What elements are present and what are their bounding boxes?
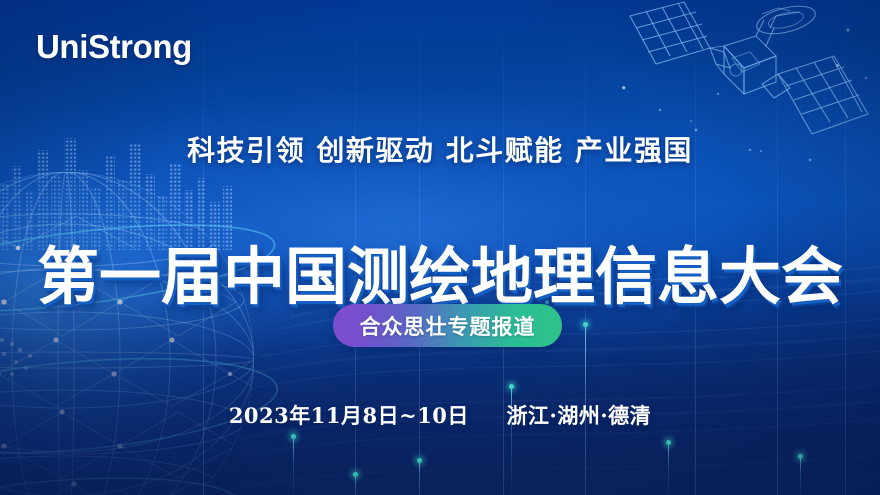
page-title: 第一届中国测绘地理信息大会: [0, 246, 880, 308]
event-location: 浙江·湖州·德清: [507, 403, 652, 428]
conference-banner: UniStrong 科技引领 创新驱动 北斗赋能 产业强国 第一届中国测绘地理信…: [0, 0, 880, 495]
date-location-line: 2023年11月8日~10日 浙江·湖州·德清: [0, 400, 880, 430]
special-report-badge[interactable]: 合众思壮专题报道: [333, 304, 562, 347]
special-report-badge-label: 合众思壮专题报道: [360, 311, 536, 341]
slogan-text: 科技引领 创新驱动 北斗赋能 产业强国: [0, 129, 880, 169]
event-dates: 2023年11月8日~10日: [229, 403, 469, 428]
brand-logo[interactable]: UniStrong: [36, 28, 192, 66]
